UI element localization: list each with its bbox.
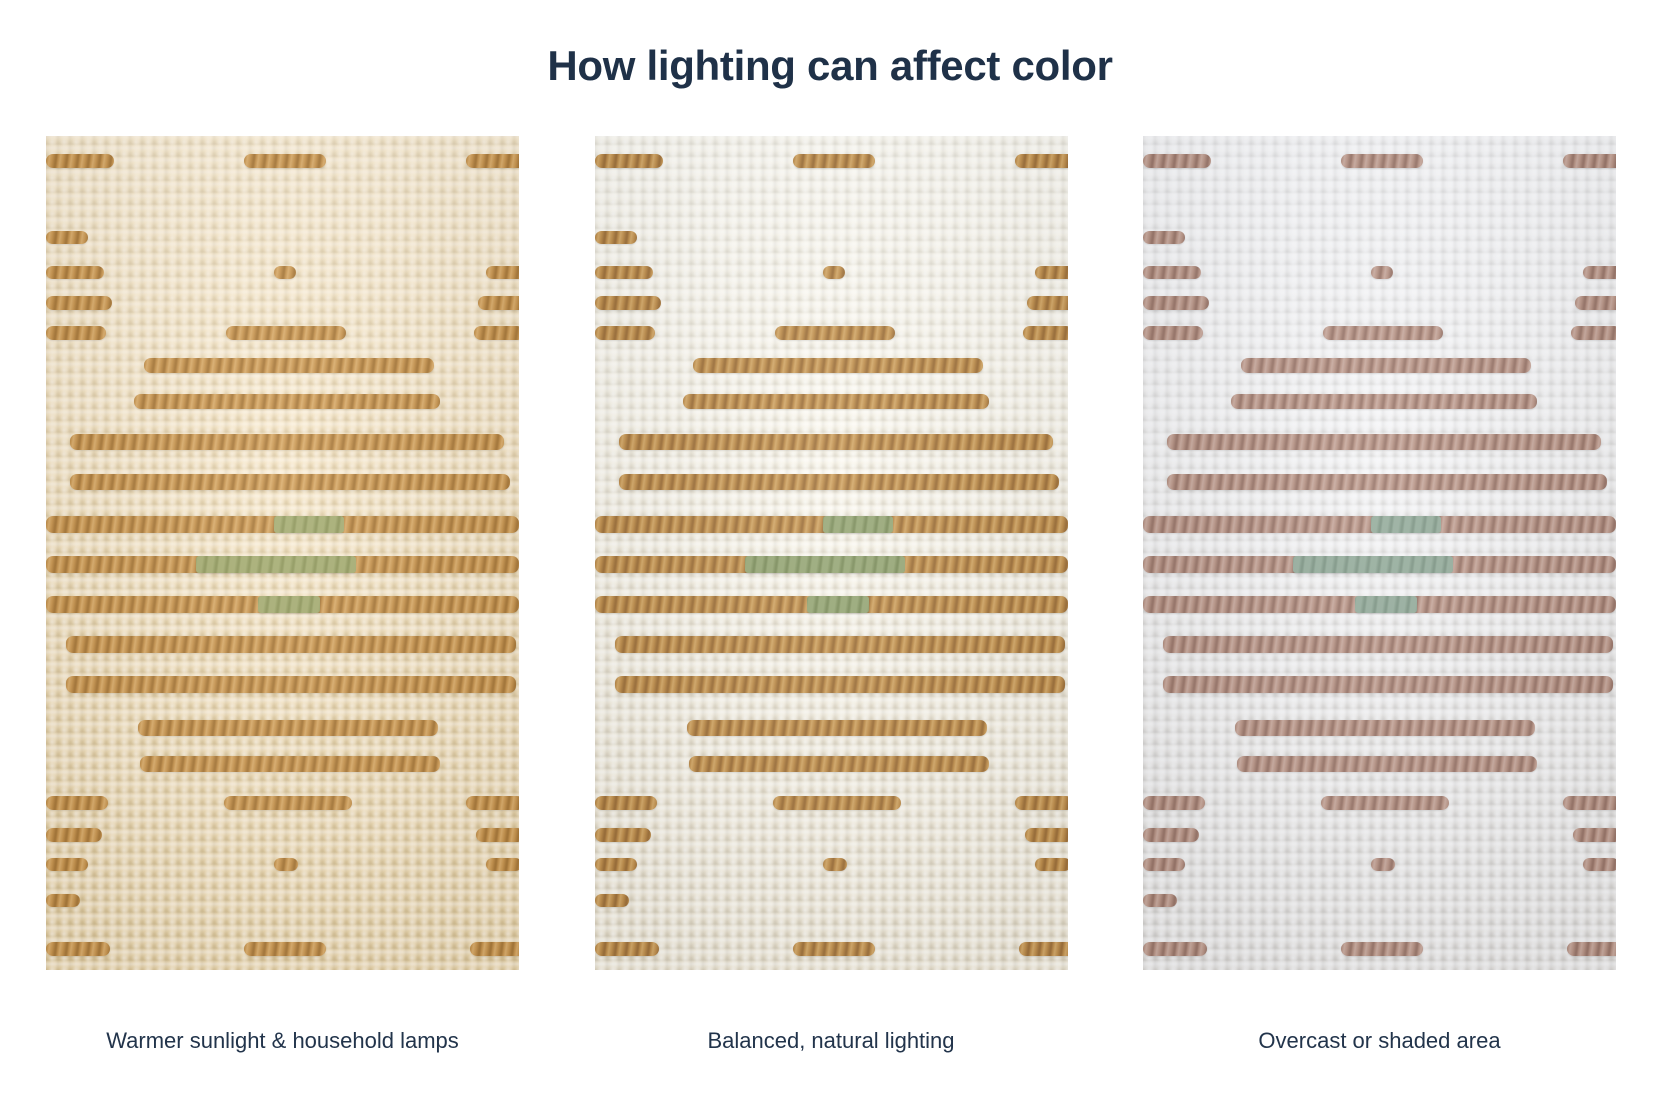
stripe-pattern [595,136,1068,970]
stripe-pattern [46,136,519,970]
rug-stripe [595,894,629,907]
poster-root: How lighting can affect color [0,0,1660,1107]
rug-stripe [1025,828,1068,842]
rug-stripe [1143,858,1185,871]
rug-stripe [1241,358,1531,373]
rug-stripe [1023,326,1068,340]
rug-stripe [486,266,519,279]
rug-stripe [1035,266,1068,279]
rug-stripe [595,231,637,244]
rug-stripe [466,154,519,168]
rug-stripe [46,828,102,842]
rug-stripe [1143,266,1201,279]
rug-stripe [1371,266,1393,279]
rug-stripe [138,720,438,736]
rug-stripe-accent [196,556,356,573]
rug-swatch [46,136,519,970]
rug-panel-warm-light[interactable] [46,136,519,970]
rug-stripe [619,434,1053,450]
rug-stripe [486,858,519,871]
caption-cool-light: Overcast or shaded area [1143,1028,1616,1054]
rug-panel-row [46,136,1616,970]
rug-stripe [1323,326,1443,340]
rug-stripe [823,266,845,279]
rug-stripe-accent [274,516,344,533]
stripe-pattern [1143,136,1616,970]
rug-stripe [476,828,519,842]
rug-stripe [70,434,504,450]
rug-stripe [1563,796,1616,810]
rug-stripe [1571,326,1616,340]
rug-stripe [274,266,296,279]
rug-stripe [66,636,516,653]
rug-stripe [683,394,989,409]
rug-stripe [1341,154,1423,168]
rug-stripe [595,796,657,810]
rug-stripe [474,326,519,340]
rug-panel-balanced-light[interactable] [595,136,1068,970]
rug-stripe [1567,942,1616,956]
rug-stripe [46,326,106,340]
rug-stripe [1143,942,1207,956]
rug-stripe [687,720,987,736]
rug-stripe-accent [1293,556,1453,573]
rug-stripe-accent [1371,516,1441,533]
rug-stripe [46,894,80,907]
rug-stripe [1143,231,1185,244]
rug-stripe [1237,756,1537,772]
rug-stripe [134,394,440,409]
rug-stripe [1321,796,1449,810]
rug-stripe [46,858,88,871]
rug-stripe [1143,828,1199,842]
rug-stripe [1583,858,1616,871]
rug-stripe [470,942,519,956]
rug-stripe [224,796,352,810]
rug-stripe [274,858,298,871]
rug-stripe [773,796,901,810]
rug-stripe [46,154,114,168]
rug-stripe [70,474,510,490]
caption-row: Warmer sunlight & household lamps Balanc… [46,1028,1616,1054]
rug-stripe [693,358,983,373]
rug-stripe [1573,828,1616,842]
rug-stripe [1371,858,1395,871]
rug-stripe [244,154,326,168]
rug-stripe [1563,154,1616,168]
rug-stripe [46,231,88,244]
rug-swatch [595,136,1068,970]
rug-stripe [226,326,346,340]
rug-stripe [619,474,1059,490]
rug-stripe [1583,266,1616,279]
rug-stripe [689,756,989,772]
rug-stripe [1015,154,1068,168]
rug-stripe-accent [258,596,320,613]
rug-stripe [595,266,653,279]
rug-stripe [66,676,516,693]
rug-stripe [615,636,1065,653]
rug-stripe [615,676,1065,693]
rug-stripe [1143,296,1209,310]
caption-balanced-light: Balanced, natural lighting [595,1028,1068,1054]
rug-stripe [595,154,663,168]
rug-stripe [1143,154,1211,168]
rug-stripe [793,154,875,168]
rug-stripe [1019,942,1068,956]
rug-stripe [1143,796,1205,810]
rug-stripe [1143,894,1177,907]
rug-stripe [595,858,637,871]
rug-stripe [793,942,875,956]
page-title: How lighting can affect color [0,42,1660,90]
rug-stripe [595,296,661,310]
rug-panel-cool-light[interactable] [1143,136,1616,970]
rug-swatch [1143,136,1616,970]
rug-stripe [466,796,519,810]
rug-stripe [1035,858,1068,871]
rug-stripe [1231,394,1537,409]
rug-stripe [140,756,440,772]
rug-stripe [1015,796,1068,810]
rug-stripe [478,296,519,310]
rug-stripe-accent [745,556,905,573]
rug-stripe [1027,296,1068,310]
rug-stripe [1575,296,1616,310]
rug-stripe [46,296,112,310]
rug-stripe [1163,676,1613,693]
rug-stripe [1167,434,1601,450]
rug-stripe [144,358,434,373]
rug-stripe-accent [823,516,893,533]
rug-stripe [1167,474,1607,490]
rug-stripe [1235,720,1535,736]
rug-stripe [775,326,895,340]
rug-stripe [46,266,104,279]
rug-stripe [46,942,110,956]
rug-stripe [1143,326,1203,340]
rug-stripe [244,942,326,956]
rug-stripe [595,942,659,956]
rug-stripe [1341,942,1423,956]
rug-stripe [46,796,108,810]
rug-stripe [595,326,655,340]
rug-stripe-accent [1355,596,1417,613]
rug-stripe [1163,636,1613,653]
rug-stripe [595,828,651,842]
rug-stripe-accent [807,596,869,613]
caption-warm-light: Warmer sunlight & household lamps [46,1028,519,1054]
rug-stripe [823,858,847,871]
